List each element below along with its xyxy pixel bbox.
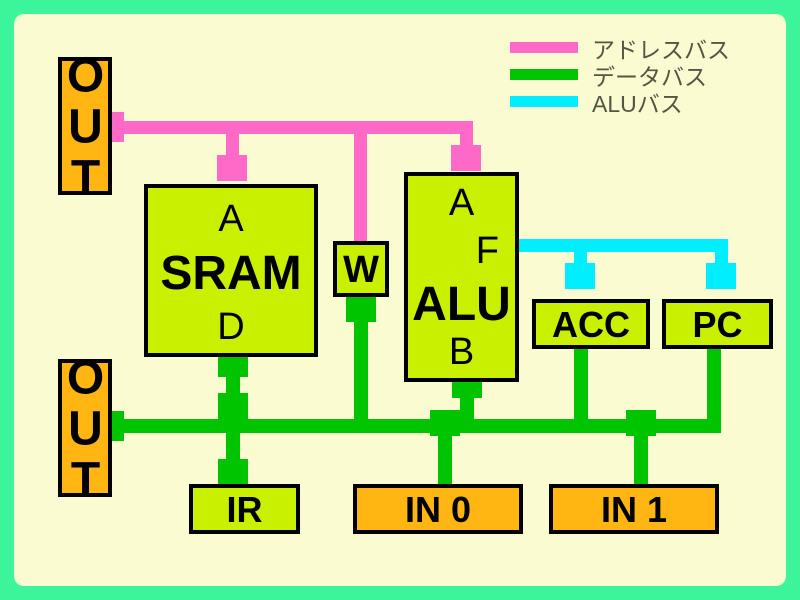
legend-swatch-address-bus: [510, 42, 578, 53]
alu-port-a-label: A: [449, 184, 474, 222]
address-bus-riser-w: [354, 121, 367, 241]
block-w-label: W: [343, 251, 379, 289]
block-ir-label: IR: [227, 492, 263, 528]
block-in1-label: IN 1: [601, 492, 667, 528]
block-in0[interactable]: IN 0: [353, 484, 523, 534]
block-acc[interactable]: ACC: [532, 299, 650, 349]
address-bus-arrow-to-alu: [451, 145, 481, 171]
block-sram[interactable]: A SRAM D: [144, 184, 318, 357]
block-in1[interactable]: IN 1: [549, 484, 719, 534]
block-acc-label: ACC: [552, 307, 630, 343]
diagram-canvas: OUT OUT A SRAM D W A F ALU B ACC PC: [14, 14, 786, 586]
data-bus-arrow-to-ir: [218, 459, 248, 485]
diagram-root: OUT OUT A SRAM D W A F ALU B ACC PC: [0, 0, 800, 600]
alu-bus-arrow-to-acc: [565, 263, 595, 289]
data-bus-arrow-from-in1: [626, 410, 656, 436]
alu-bus-arrow-to-pc: [706, 263, 736, 289]
sram-port-d-label: D: [217, 308, 244, 346]
sram-port-a-label: A: [218, 200, 243, 238]
alu-bus-trunk: [516, 239, 728, 252]
data-bus-arrow-to-w: [346, 296, 376, 322]
block-pc[interactable]: PC: [662, 299, 773, 349]
data-bus-branch-w: [354, 316, 368, 426]
block-alu[interactable]: A F ALU B: [404, 172, 519, 382]
data-bus-branch-pc: [707, 344, 721, 428]
data-bus-branch-acc: [574, 344, 588, 428]
block-out-top[interactable]: OUT: [58, 57, 112, 195]
legend: アドレスバス データバス ALUバス: [510, 34, 730, 115]
alu-port-b-label: B: [449, 333, 474, 371]
block-ir[interactable]: IR: [189, 484, 300, 534]
data-bus-branch-ir: [226, 419, 240, 463]
data-bus-branch-in0: [438, 433, 452, 487]
data-bus-arrow-from-in0: [430, 410, 460, 436]
address-bus-trunk: [124, 121, 473, 134]
block-in0-label: IN 0: [405, 492, 471, 528]
data-bus-arrow-from-sram: [218, 393, 248, 419]
block-w[interactable]: W: [333, 241, 389, 297]
block-out-bottom[interactable]: OUT: [58, 359, 112, 497]
block-out-bottom-label: OUT: [61, 352, 109, 505]
legend-swatch-data-bus: [510, 69, 578, 80]
alu-port-f-label: F: [476, 232, 499, 270]
address-bus-drop-sram: [226, 121, 239, 159]
legend-item-alu-bus: ALUバス: [510, 88, 730, 115]
address-bus-arrow-to-sram: [217, 155, 247, 181]
legend-label-alu-bus: ALUバス: [592, 85, 683, 119]
block-sram-label: SRAM: [160, 250, 301, 298]
legend-swatch-alu-bus: [510, 96, 578, 107]
block-pc-label: PC: [692, 307, 742, 343]
block-out-top-label: OUT: [61, 50, 109, 203]
data-bus-branch-in1: [634, 433, 648, 487]
block-alu-label: ALU: [412, 281, 511, 329]
